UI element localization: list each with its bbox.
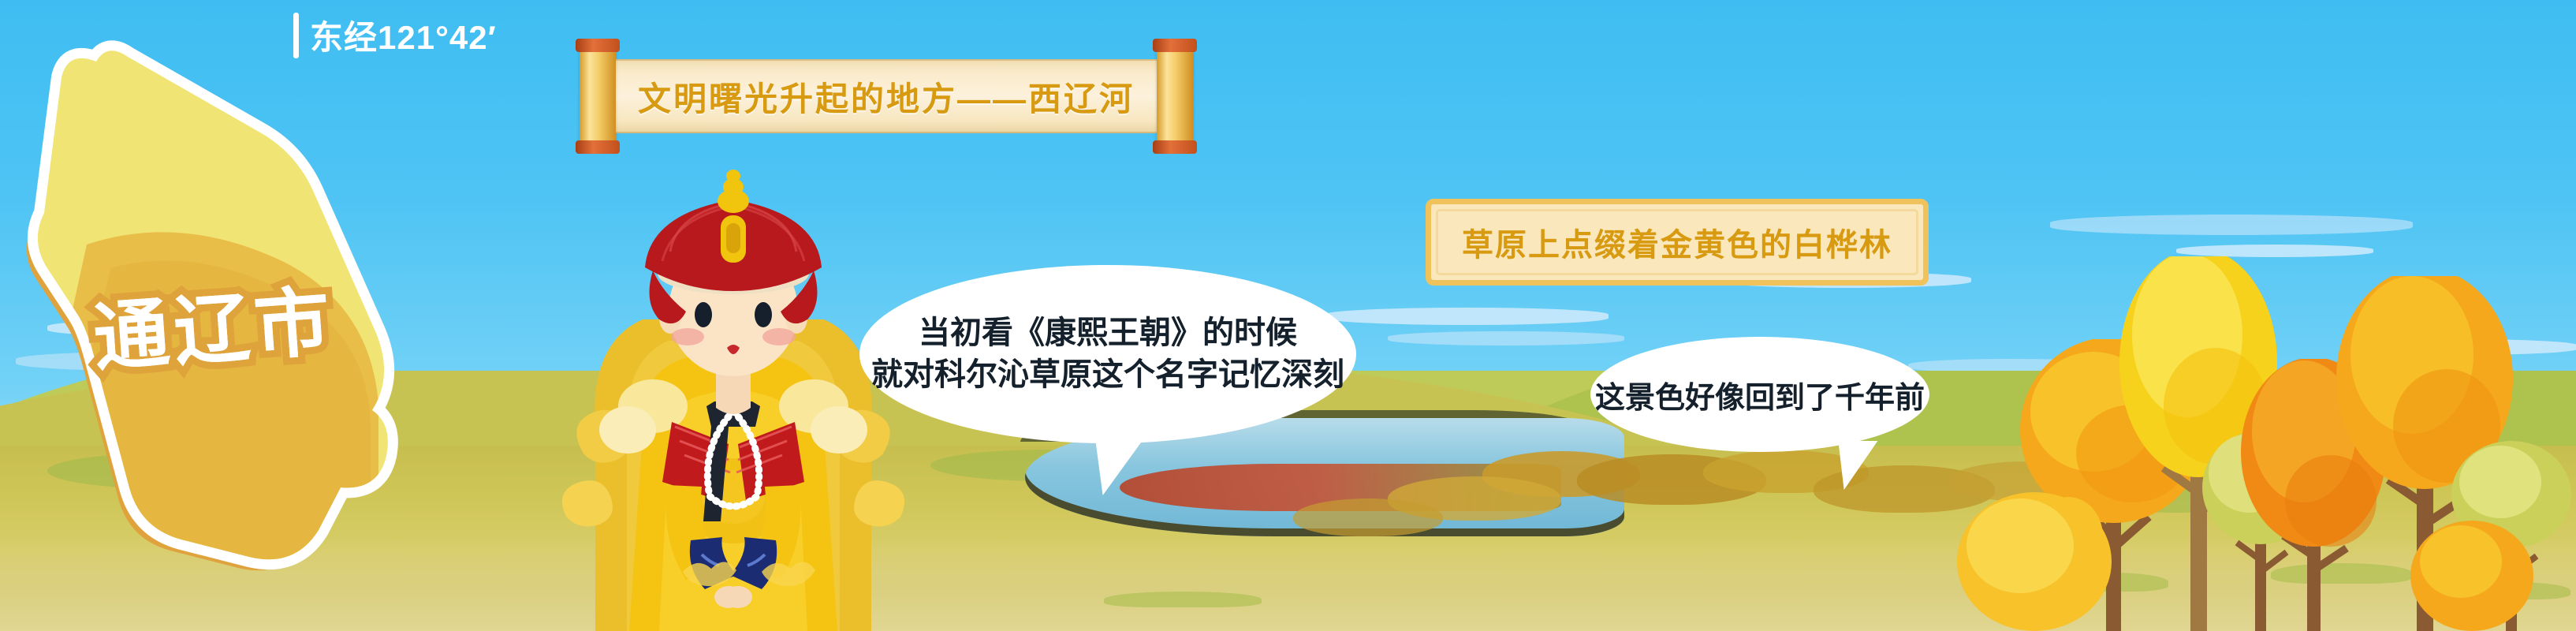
speech-bubble-scene-line1: 这景色好像回到了千年前 <box>1595 373 1925 416</box>
caption-plate: 草原上点缀着金黄色的白桦林 <box>1426 199 1929 286</box>
tongliao-city-banner: 通辽市 通辽市 东经121°42′ 文明曙光升起的地方——西辽河 草原上点缀着金… <box>0 0 2576 631</box>
speech-bubble-scene: 这景色好像回到了千年前 <box>1590 337 1929 452</box>
speech-bubble-scene-tail <box>1832 441 1878 490</box>
speech-bubble-kangxi-tail <box>1083 429 1151 495</box>
scroll-paper: 文明曙光升起的地方——西辽河 <box>611 59 1161 133</box>
tree-7 <box>1955 489 2113 631</box>
speech-bubble-kangxi-line2: 就对科尔沁草原这个名字记忆深刻 <box>871 354 1344 396</box>
caption-plate-text: 草原上点缀着金黄色的白桦林 <box>1462 228 1892 263</box>
scroll-roller-left <box>580 47 616 145</box>
cloud-9 <box>2050 215 2413 235</box>
kangxi-emperor-illustration <box>552 170 915 631</box>
tree-8 <box>2409 513 2535 631</box>
coordinate-divider-bar <box>293 13 299 58</box>
speech-bubble-kangxi: 当初看《康熙王朝》的时候 就对科尔沁草原这个名字记忆深刻 <box>859 265 1356 443</box>
scroll-roller-right <box>1157 47 1193 145</box>
cloud-6 <box>1325 308 1609 325</box>
coordinate-text: 东经121°42′ <box>310 11 497 59</box>
city-name: 通辽市 <box>90 259 338 386</box>
scroll-title-text: 文明曙光升起的地方——西辽河 <box>638 73 1135 121</box>
shrub-band-6 <box>1293 498 1443 536</box>
scroll-title-banner: 文明曙光升起的地方——西辽河 <box>580 47 1193 145</box>
speech-bubble-kangxi-line1: 当初看《康熙王朝》的时候 <box>919 312 1297 354</box>
coordinate-label: 东经121°42′ <box>293 11 497 59</box>
cloud-7 <box>1388 331 1624 345</box>
cloud-10 <box>2176 245 2373 257</box>
grass-tuft-4 <box>1104 592 1262 607</box>
caption-plate-inner: 草原上点缀着金黄色的白桦林 <box>1436 209 1918 275</box>
